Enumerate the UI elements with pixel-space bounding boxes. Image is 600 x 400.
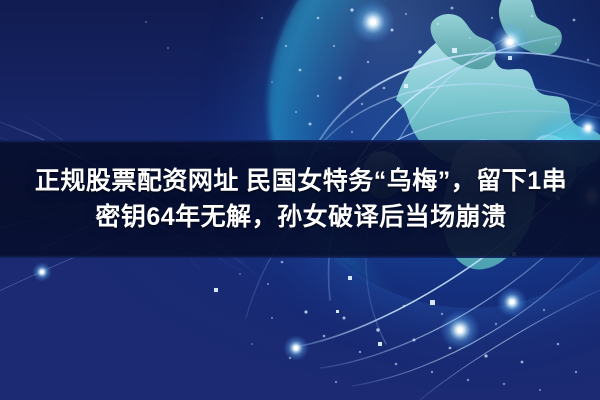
caption-text-block: 正规股票配资网址 民国女特务“乌梅”，留下1串 密钥64年无解，孙女破译后当场崩…	[0, 140, 600, 258]
promo-banner: 正规股票配资网址 民国女特务“乌梅”，留下1串 密钥64年无解，孙女破译后当场崩…	[0, 0, 600, 400]
caption-line-1: 正规股票配资网址 民国女特务“乌梅”，留下1串	[33, 165, 567, 197]
caption-line-2: 密钥64年无解，孙女破译后当场崩溃	[93, 201, 506, 233]
